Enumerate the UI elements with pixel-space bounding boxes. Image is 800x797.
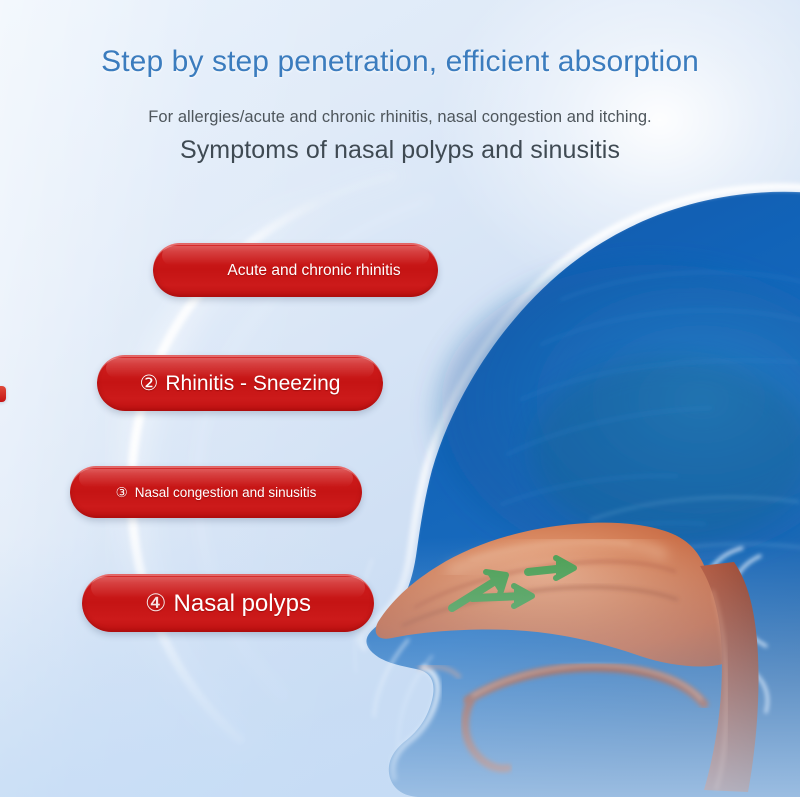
airflow-arrow-1: [452, 572, 506, 608]
symptom-pill-4-label: Nasal polyps: [174, 590, 311, 618]
chin-rim-light: [393, 668, 438, 778]
palate-highlight: [472, 665, 702, 700]
ear-outline: [702, 548, 768, 712]
symptom-pill-3-label: Nasal congestion and sinusitis: [135, 485, 317, 500]
symptom-pill-1-label: Acute and chronic rhinitis: [197, 262, 400, 280]
pill-edge-sliver: [0, 386, 6, 402]
airflow-arrows: [452, 558, 574, 608]
symptom-pill-2-number: ②: [140, 371, 159, 396]
symptom-pill-2[interactable]: ② Rhinitis - Sneezing: [97, 355, 383, 411]
symptom-pill-1[interactable]: Acute and chronic rhinitis: [153, 243, 438, 297]
turbinates: [402, 542, 678, 626]
symptom-pill-3-number: ③: [116, 485, 128, 501]
symptom-pill-2-label: Rhinitis - Sneezing: [165, 372, 340, 396]
skull-detail-lines: [590, 497, 800, 560]
brain-mass: [435, 265, 800, 565]
header-block: Step by step penetration, efficient abso…: [0, 0, 800, 165]
skull-sutures: [500, 272, 800, 545]
mucosa-highlight: [448, 542, 666, 572]
nasopharynx-highlight: [712, 590, 726, 790]
brain-core: [532, 358, 800, 542]
nasal-cavity: [376, 523, 747, 667]
page-subtitle: For allergies/acute and chronic rhinitis…: [0, 108, 800, 127]
poster-canvas: Step by step penetration, efficient abso…: [0, 0, 800, 797]
airflow-arrow-3: [528, 558, 574, 578]
symptom-pill-4-number: ④: [145, 589, 167, 618]
symptom-pill-3[interactable]: ③ Nasal congestion and sinusitis: [70, 466, 362, 518]
nasopharynx: [700, 562, 759, 792]
page-subheading: Symptoms of nasal polyps and sinusitis: [0, 136, 800, 165]
soft-palate: [468, 667, 704, 704]
mouth-line: [418, 666, 460, 678]
page-title: Step by step penetration, efficient abso…: [0, 44, 800, 80]
symptom-pill-4[interactable]: ④ Nasal polyps: [82, 574, 374, 632]
airflow-arrow-2: [472, 586, 532, 606]
tongue-tip: [465, 702, 508, 768]
